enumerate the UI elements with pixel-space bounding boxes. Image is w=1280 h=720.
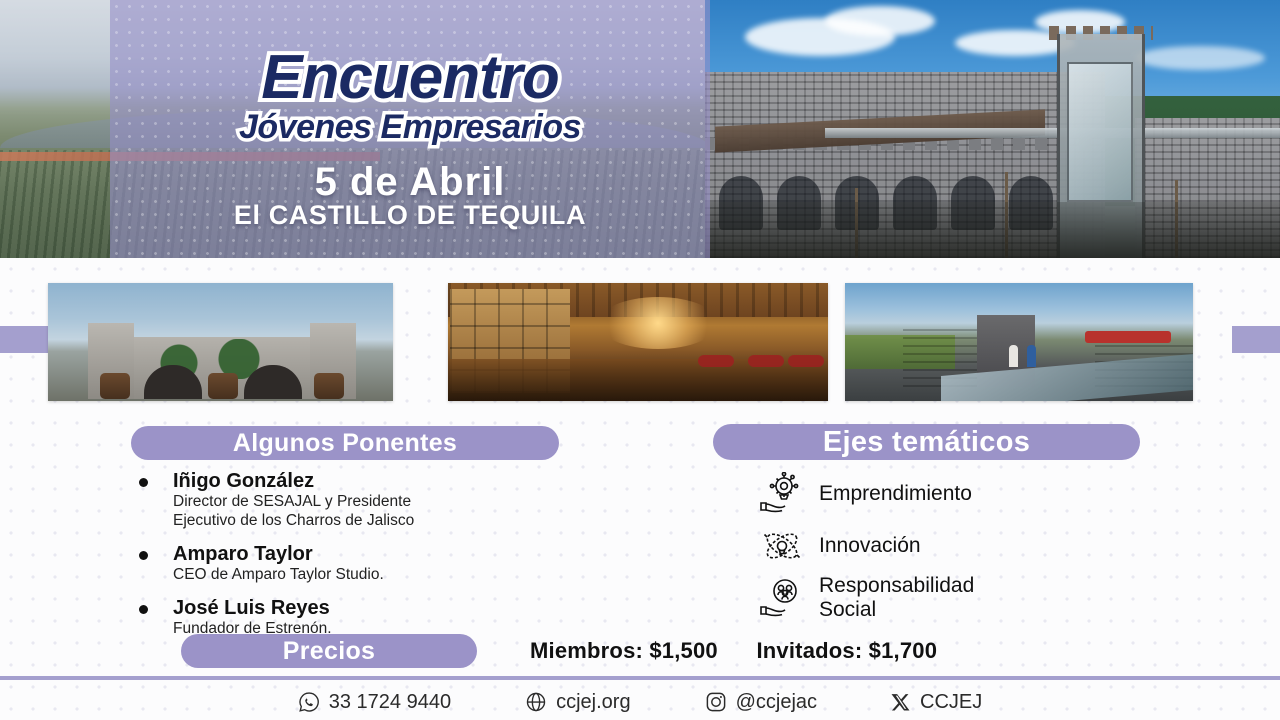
barrel-cellar-interior-photo: [448, 283, 828, 401]
contact-instagram[interactable]: @ccjejac: [705, 691, 817, 714]
cloud-shape: [825, 6, 935, 36]
x-twitter-icon: [891, 692, 911, 712]
event-venue: El CASTILLO DE TEQUILA: [110, 200, 710, 231]
themes-heading-pill: Ejes temáticos: [713, 424, 1140, 460]
hero-text-block: Encuentro Jóvenes Empresarios 5 de Abril…: [110, 0, 710, 258]
event-title-sub: Jóvenes Empresarios: [239, 110, 581, 144]
theme-label: Innovación: [819, 534, 921, 558]
list-item: Iñigo González Director de SESAJAL y Pre…: [131, 470, 601, 531]
contact-x-twitter[interactable]: CCJEJ: [891, 691, 982, 714]
speakers-list: Iñigo González Director de SESAJAL y Pre…: [131, 470, 601, 651]
list-item: Responsabilidad Social: [745, 574, 1165, 622]
hand-gear-bulb-icon: [745, 472, 819, 516]
elevated-walkway: [825, 128, 1280, 138]
list-item: José Luis Reyes Fundador de Estrenón.: [131, 597, 601, 639]
speakers-heading-label: Algunos Ponentes: [233, 429, 457, 458]
bullet-icon: [139, 605, 148, 614]
speaker-name: Amparo Taylor: [173, 543, 601, 566]
theme-label: Responsabilidad Social: [819, 574, 974, 621]
bullet-icon: [139, 478, 148, 487]
list-item: Amparo Taylor CEO de Amparo Taylor Studi…: [131, 543, 601, 585]
barrel-shape: [100, 373, 130, 399]
foreground-shadow: [705, 202, 1280, 258]
red-flowers: [788, 355, 824, 367]
speaker-role: Director de SESAJAL y Presidente Ejecuti…: [173, 493, 601, 531]
contact-whatsapp-text: 33 1724 9440: [329, 691, 451, 714]
red-canopy: [1085, 331, 1171, 343]
globe-icon: [525, 691, 547, 713]
contact-website[interactable]: ccjej.org: [525, 691, 630, 714]
person-figure: [1009, 345, 1018, 367]
atom-bulb-icon: [745, 524, 819, 568]
themes-heading-label: Ejes temáticos: [823, 426, 1030, 459]
event-title-main: Encuentro: [261, 48, 559, 108]
instagram-icon: [705, 691, 727, 713]
footer-divider: [0, 676, 1280, 680]
speaker-role: CEO de Amparo Taylor Studio.: [173, 566, 601, 585]
themes-list: Emprendimiento Innovación Respo: [745, 470, 1165, 626]
barrel-shape: [208, 373, 238, 399]
contact-instagram-text: @ccjejac: [736, 691, 817, 714]
price-members: Miembros: $1,500: [530, 638, 718, 663]
person-figure: [1027, 345, 1036, 367]
event-title-wrap: Encuentro Jóvenes Empresarios: [110, 48, 710, 144]
contact-x-text: CCJEJ: [920, 691, 982, 714]
list-item: Emprendimiento: [745, 470, 1165, 518]
speaker-name: José Luis Reyes: [173, 597, 601, 620]
barrel-shape: [314, 373, 344, 399]
hero-banner: Encuentro Jóvenes Empresarios 5 de Abril…: [0, 0, 1280, 258]
theme-label: Emprendimiento: [819, 482, 972, 506]
speakers-heading-pill: Algunos Ponentes: [131, 426, 559, 460]
contact-footer: 33 1724 9440 ccjej.org @ccjejac: [0, 684, 1280, 720]
cloud-shape: [1135, 46, 1265, 70]
bullet-icon: [139, 551, 148, 560]
list-item: Innovación: [745, 522, 1165, 570]
contact-website-text: ccjej.org: [556, 691, 630, 714]
event-date: 5 de Abril: [110, 160, 710, 205]
contact-whatsapp[interactable]: 33 1724 9440: [298, 691, 451, 714]
castle-facade-barrels-photo: [48, 283, 393, 401]
speaker-role: Fundador de Estrenón.: [173, 620, 601, 639]
elevator-glass: [1067, 62, 1133, 202]
hand-people-icon: [745, 576, 819, 620]
red-flowers: [748, 355, 784, 367]
red-flowers: [698, 355, 734, 367]
prices-values: Miembros: $1,500 Invitados: $1,700: [530, 638, 937, 664]
castle-glass-walkway-photo: [845, 283, 1193, 401]
price-guests: Invitados: $1,700: [756, 638, 937, 663]
whatsapp-icon: [298, 691, 320, 713]
castle-elevator-tower-photo: [705, 0, 1280, 258]
chandelier-glow: [598, 297, 718, 349]
speaker-name: Iñigo González: [173, 470, 601, 493]
accent-bar-right: [1232, 326, 1280, 353]
